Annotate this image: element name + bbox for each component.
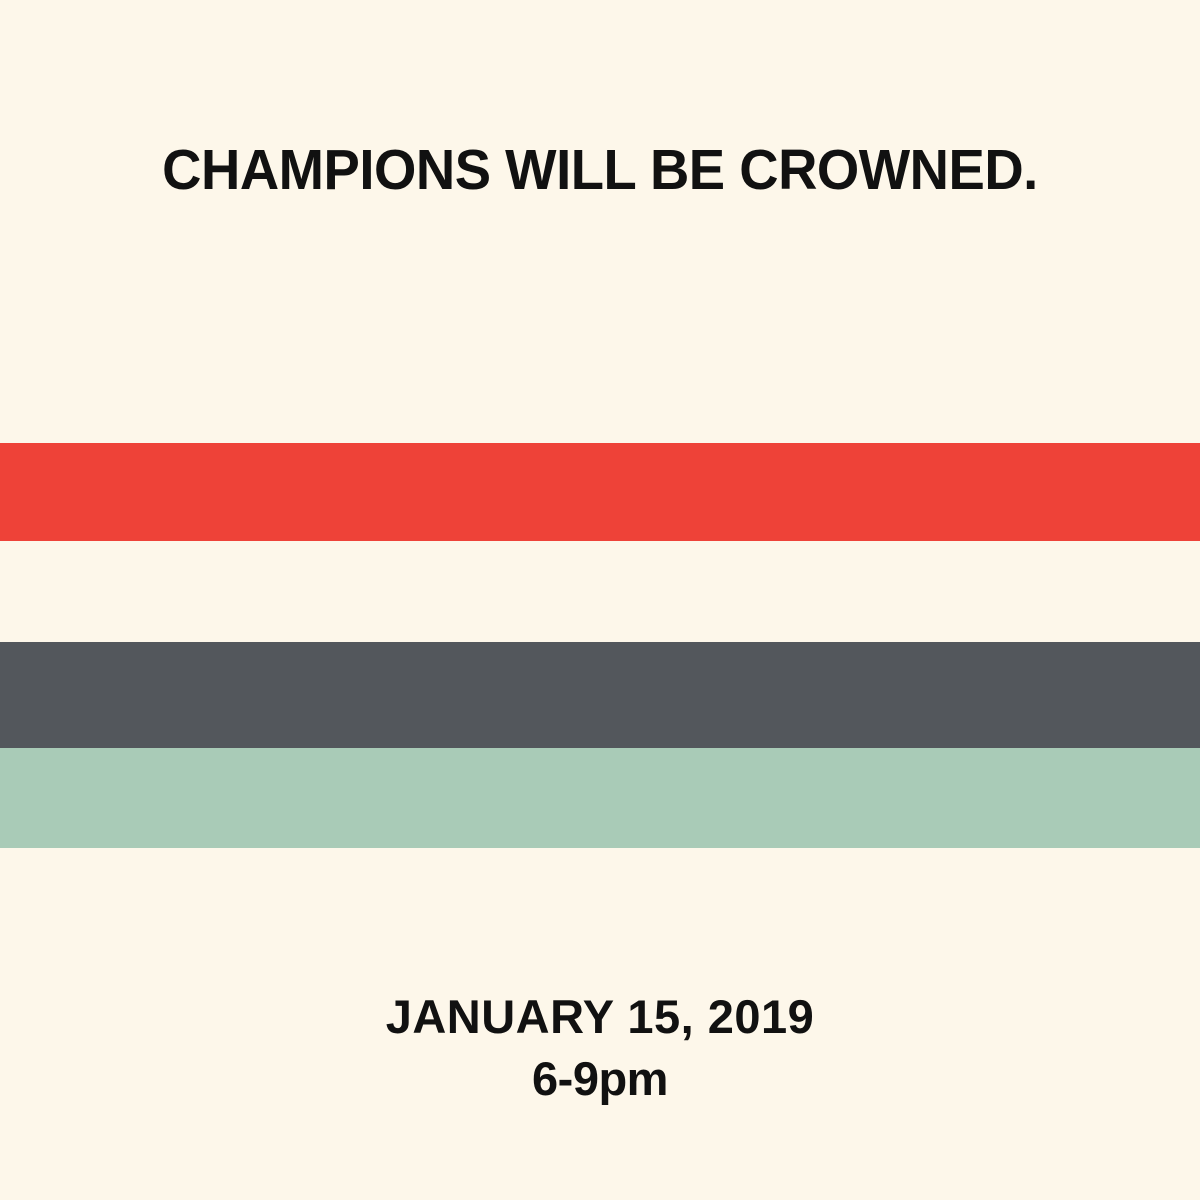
event-date: JANUARY 15, 2019 xyxy=(0,988,1200,1046)
gray-band xyxy=(0,642,1200,748)
green-band xyxy=(0,748,1200,848)
page-title: CHAMPIONS WILL BE CROWNED. xyxy=(27,138,1173,202)
poster-canvas: CHAMPIONS WILL BE CROWNED. JANUARY 15, 2… xyxy=(0,0,1200,1200)
event-time: 6-9pm xyxy=(0,1054,1200,1104)
red-band xyxy=(0,443,1200,541)
event-details: JANUARY 15, 2019 6-9pm xyxy=(0,988,1200,1104)
